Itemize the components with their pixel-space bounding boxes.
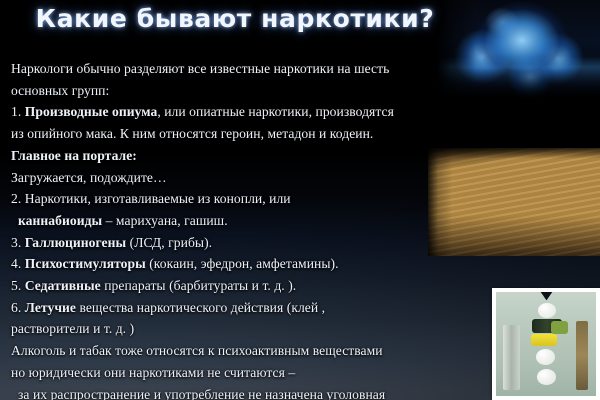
body-text-run: препараты (барбитураты и т. д. ). bbox=[101, 278, 296, 293]
body-text-run: , или опиатные наркотики, производятся bbox=[157, 104, 394, 119]
body-text-emphasis: Производные опиума bbox=[25, 104, 158, 119]
body-line: Загружается, подождите… bbox=[11, 167, 600, 189]
body-line: 2. Наркотики, изготавливаемые из конопли… bbox=[11, 188, 600, 210]
body-line: 3. Галлюциногены (ЛСД, грибы). bbox=[11, 232, 600, 254]
body-line: каннабиоиды – марихуана, гашиш. bbox=[11, 210, 600, 232]
body-line: 6. Летучие вещества наркотического дейст… bbox=[11, 297, 600, 319]
body-text-run: из опийного мака. К ним относятся героин… bbox=[11, 126, 373, 141]
slide-title: Какие бывают наркотики? bbox=[0, 4, 470, 33]
body-line: Алкоголь и табак тоже относятся к психоа… bbox=[11, 340, 600, 362]
body-line: 4. Психостимуляторы (кокаин, эфедрон, ам… bbox=[11, 253, 600, 275]
body-line: 1. Производные опиума, или опиатные нарк… bbox=[11, 101, 600, 123]
body-text-run: основных групп: bbox=[11, 83, 109, 98]
body-text-run: 3. bbox=[11, 235, 25, 250]
body-line: 5. Седативные препараты (барбитураты и т… bbox=[11, 275, 600, 297]
body-text-emphasis: Главное на портале: bbox=[11, 148, 137, 163]
body-text-emphasis: Галлюциногены bbox=[25, 235, 126, 250]
body-text-emphasis: Психостимуляторы bbox=[25, 256, 146, 271]
body-text-run: Алкоголь и табак тоже относятся к психоа… bbox=[11, 343, 383, 358]
body-text-run: вещества наркотического действия (клей , bbox=[76, 300, 325, 315]
body-text-run: 2. Наркотики, изготавливаемые из конопли… bbox=[11, 191, 291, 206]
body-text-emphasis: Летучие bbox=[25, 300, 76, 315]
body-text-run: 6. bbox=[11, 300, 25, 315]
body-text-run: 4. bbox=[11, 256, 25, 271]
slide-body: Наркологи обычно разделяют все известные… bbox=[11, 58, 600, 400]
body-text-run: растворители и т. д. ) bbox=[11, 321, 134, 336]
body-line: за их распространение и употребление не … bbox=[11, 384, 600, 400]
presentation-slide: Какие бывают наркотики? Наркологи обычно… bbox=[0, 0, 600, 400]
body-text-run: Загружается, подождите… bbox=[11, 170, 167, 185]
body-text-run: – марихуана, гашиш. bbox=[102, 213, 227, 228]
body-text-emphasis: Седативные bbox=[25, 278, 101, 293]
body-line: но юридически они наркотиками не считают… bbox=[11, 362, 600, 384]
body-text-run: 1. bbox=[11, 104, 25, 119]
body-text-run: но юридически они наркотиками не считают… bbox=[11, 365, 295, 380]
body-line: Главное на портале: bbox=[11, 145, 600, 167]
body-text-run: Наркологи обычно разделяют все известные… bbox=[11, 61, 389, 76]
body-text-run: (кокаин, эфедрон, амфетамины). bbox=[146, 256, 339, 271]
body-text-emphasis: каннабиоиды bbox=[18, 213, 102, 228]
body-line: основных групп: bbox=[11, 80, 600, 102]
body-line: растворители и т. д. ) bbox=[11, 318, 600, 340]
body-text-run: (ЛСД, грибы). bbox=[126, 235, 212, 250]
body-line: Наркологи обычно разделяют все известные… bbox=[11, 58, 600, 80]
body-line: из опийного мака. К ним относятся героин… bbox=[11, 123, 600, 145]
body-text-run: 5. bbox=[11, 278, 25, 293]
body-text-run: за их распространение и употребление не … bbox=[18, 387, 385, 400]
